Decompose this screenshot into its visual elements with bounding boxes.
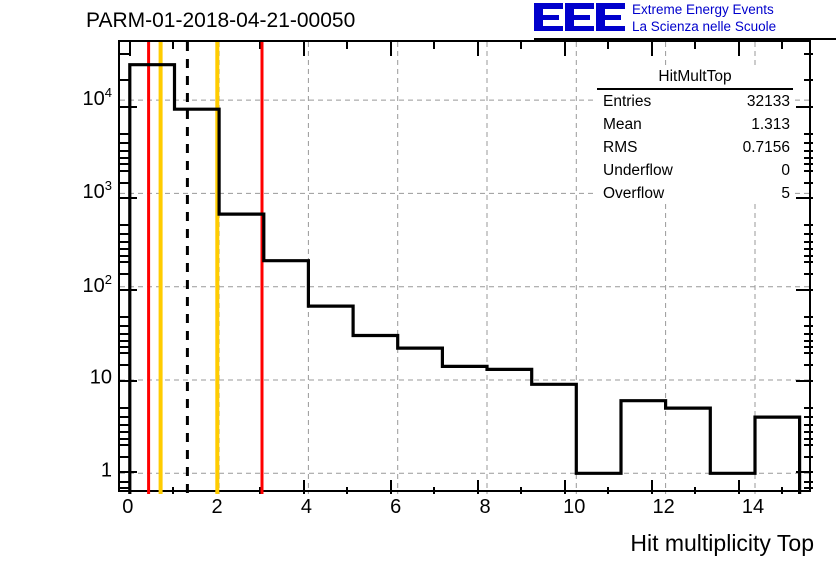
eee-logo-mark-icon <box>534 1 626 35</box>
eee-logo-line2: La Scienza nelle Scuole <box>632 19 776 36</box>
eee-logo: Extreme Energy Events La Scienza nelle S… <box>534 1 834 37</box>
stats-row-rms: RMS 0.7156 <box>597 136 793 159</box>
stats-row-overflow: Overflow 5 <box>597 182 793 205</box>
x-tick-label-6: 6 <box>390 496 401 519</box>
y-tick-label-100: 102 <box>83 272 112 298</box>
page-title: PARM-01-2018-04-21-00050 <box>86 9 355 33</box>
y-tick-label-10: 10 <box>90 367 112 390</box>
x-axis-title: Hit multiplicity Top <box>630 530 814 557</box>
y-axis-tick-labels: 104 103 102 10 1 <box>36 40 112 492</box>
y-tick-label-1: 1 <box>101 460 112 483</box>
eee-logo-text: Extreme Energy Events La Scienza nelle S… <box>632 2 776 35</box>
stats-row-underflow: Underflow 0 <box>597 159 793 182</box>
stats-value-overflow: 5 <box>781 182 790 205</box>
stats-key-underflow: Underflow <box>603 159 673 182</box>
stats-key-entries: Entries <box>603 90 651 113</box>
x-tick-label-8: 8 <box>479 496 490 519</box>
stats-key-overflow: Overflow <box>603 182 664 205</box>
stats-value-mean: 1.313 <box>751 113 790 136</box>
x-tick-label-0: 0 <box>122 496 133 519</box>
x-tick-label-14: 14 <box>742 496 764 519</box>
x-axis-tick-labels: 0 2 4 6 8 10 12 14 <box>118 496 811 526</box>
stats-row-entries: Entries 32133 <box>597 90 793 113</box>
x-tick-label-12: 12 <box>652 496 674 519</box>
x-tick-label-4: 4 <box>301 496 312 519</box>
x-tick-label-2: 2 <box>212 496 223 519</box>
stats-key-rms: RMS <box>603 136 637 159</box>
stats-key-mean: Mean <box>603 113 642 136</box>
stats-value-underflow: 0 <box>781 159 790 182</box>
statistics-box: HitMultTop Entries 32133 Mean 1.313 RMS … <box>597 66 793 204</box>
stats-value-entries: 32133 <box>747 90 790 113</box>
y-tick-label-10000: 104 <box>83 85 112 111</box>
stats-row-mean: Mean 1.313 <box>597 113 793 136</box>
stats-value-rms: 0.7156 <box>743 136 790 159</box>
statistics-box-title: HitMultTop <box>597 66 793 90</box>
y-tick-label-1000: 103 <box>83 179 112 205</box>
eee-logo-line1: Extreme Energy Events <box>632 2 776 19</box>
x-tick-label-10: 10 <box>563 496 585 519</box>
